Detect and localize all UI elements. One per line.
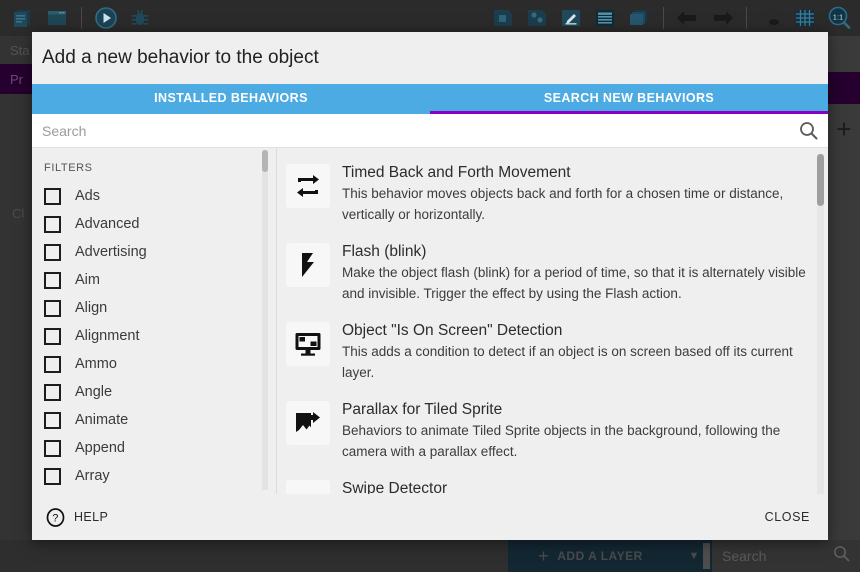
checkbox[interactable] <box>44 188 61 205</box>
behavior-title: Object "Is On Screen" Detection <box>342 322 812 340</box>
list-item-text: Object "Is On Screen" Detection This add… <box>342 322 812 383</box>
background-clipped-text: Cl <box>12 206 24 221</box>
filter-item-angle[interactable]: Angle <box>38 378 278 406</box>
behaviors-scrollbar-thumb[interactable] <box>817 154 824 206</box>
svg-text:?: ? <box>52 512 59 524</box>
app-toolbar: 1:1 <box>0 0 860 36</box>
list-item[interactable]: Parallax for Tiled Sprite Behaviors to a… <box>286 393 812 472</box>
list-item[interactable]: Timed Back and Forth Movement This behav… <box>286 156 812 235</box>
filters-panel: FILTERS Ads Advanced Advertising Aim <box>32 148 278 494</box>
checkbox[interactable] <box>44 328 61 345</box>
filter-item-append[interactable]: Append <box>38 434 278 462</box>
behavior-title: Swipe Detector <box>342 480 812 494</box>
behavior-title: Flash (blink) <box>342 243 812 261</box>
loop-arrows-icon <box>286 164 330 208</box>
dialog-footer: ? HELP CLOSE <box>32 494 828 540</box>
filter-label: Advertising <box>75 244 147 260</box>
add-behavior-plus-button[interactable]: + <box>828 112 860 146</box>
filter-label: Append <box>75 440 125 456</box>
objects-group-icon[interactable] <box>522 5 552 31</box>
tab-installed-behaviors[interactable]: INSTALLED BEHAVIORS <box>32 84 430 114</box>
list-item-text: Parallax for Tiled Sprite Behaviors to a… <box>342 401 812 462</box>
documents-icon[interactable] <box>8 5 38 31</box>
help-label: HELP <box>74 510 108 524</box>
checkbox[interactable] <box>44 468 61 485</box>
filter-item-array[interactable]: Array <box>38 462 278 490</box>
filter-item-ammo[interactable]: Ammo <box>38 350 278 378</box>
checkbox[interactable] <box>44 216 61 233</box>
checkbox[interactable] <box>44 412 61 429</box>
filters-heading: FILTERS <box>38 162 278 174</box>
toolbar-divider <box>81 7 82 29</box>
list-item-text: Swipe Detector <box>342 480 812 494</box>
application-window: 1:1 Sta Pr Cl × + + ADD A LAYER ▼ Search… <box>0 0 860 572</box>
debug-bug-icon[interactable] <box>125 5 155 31</box>
flash-bolt-icon <box>286 243 330 287</box>
filter-label: Array <box>75 468 110 484</box>
behavior-title: Timed Back and Forth Movement <box>342 164 812 182</box>
add-behavior-dialog: Add a new behavior to the object INSTALL… <box>32 32 828 540</box>
screenshot-icon[interactable] <box>756 5 786 31</box>
filter-item-advertising[interactable]: Advertising <box>38 238 278 266</box>
behavior-description: Behaviors to animate Tiled Sprite object… <box>342 421 812 462</box>
image-arrow-icon <box>286 401 330 445</box>
object-cube-icon[interactable] <box>488 5 518 31</box>
filter-item-advanced[interactable]: Advanced <box>38 210 278 238</box>
plus-icon: + <box>538 546 549 567</box>
checkbox[interactable] <box>44 356 61 373</box>
filter-item-align[interactable]: Align <box>38 294 278 322</box>
filter-label: Ammo <box>75 356 117 372</box>
toolbar-right-group: 1:1 <box>488 5 860 31</box>
dialog-tabs: INSTALLED BEHAVIORS SEARCH NEW BEHAVIORS <box>32 84 828 114</box>
zoom-one-to-one-icon[interactable]: 1:1 <box>824 5 854 31</box>
filters-scrollbar-thumb[interactable] <box>262 150 268 172</box>
list-item-text: Timed Back and Forth Movement This behav… <box>342 164 812 225</box>
dialog-body: FILTERS Ads Advanced Advertising Aim <box>32 148 828 494</box>
add-a-layer-label: ADD A LAYER <box>557 549 643 563</box>
svg-text:1:1: 1:1 <box>833 13 843 22</box>
bottom-search-placeholder: Search <box>722 548 766 564</box>
filter-item-alignment[interactable]: Alignment <box>38 322 278 350</box>
checkbox[interactable] <box>44 244 61 261</box>
question-circle-icon: ? <box>46 508 65 527</box>
checkbox[interactable] <box>44 384 61 401</box>
filter-label: Aim <box>75 272 100 288</box>
window-icon[interactable] <box>42 5 72 31</box>
filter-item-animate[interactable]: Animate <box>38 406 278 434</box>
checkbox[interactable] <box>44 272 61 289</box>
search-icon[interactable] <box>833 545 850 567</box>
filter-label: Angle <box>75 384 112 400</box>
arrow-right-icon <box>286 480 330 494</box>
close-button[interactable]: CLOSE <box>765 510 810 524</box>
redo-arrow-icon[interactable] <box>707 5 737 31</box>
filter-label: Align <box>75 300 107 316</box>
filter-label: Animate <box>75 412 128 428</box>
tab-search-new-behaviors[interactable]: SEARCH NEW BEHAVIORS <box>430 84 828 114</box>
checkbox[interactable] <box>44 440 61 457</box>
grid-icon[interactable] <box>790 5 820 31</box>
layers-icon[interactable] <box>624 5 654 31</box>
toolbar-divider-2 <box>663 7 664 29</box>
filter-item-ads[interactable]: Ads <box>38 182 278 210</box>
background-bottom-bar: + ADD A LAYER ▼ Search <box>0 540 860 572</box>
search-input[interactable] <box>42 123 799 139</box>
dialog-search-bar <box>32 114 828 148</box>
edit-pencil-icon[interactable] <box>556 5 586 31</box>
add-a-layer-button[interactable]: + ADD A LAYER <box>508 540 673 572</box>
list-item[interactable]: Swipe Detector <box>286 472 812 494</box>
behavior-description: This behavior moves objects back and for… <box>342 184 812 225</box>
list-item[interactable]: Object "Is On Screen" Detection This add… <box>286 314 812 393</box>
list-item[interactable]: Flash (blink) Make the object flash (bli… <box>286 235 812 314</box>
play-icon[interactable] <box>91 5 121 31</box>
behaviors-list: Timed Back and Forth Movement This behav… <box>278 148 828 494</box>
filter-label: Advanced <box>75 216 140 232</box>
monitor-screen-icon <box>286 322 330 366</box>
panel-divider <box>276 148 277 494</box>
behavior-description: This adds a condition to detect if an ob… <box>342 342 812 383</box>
help-button[interactable]: ? HELP <box>46 508 108 527</box>
behavior-description: Make the object flash (blink) for a peri… <box>342 263 812 304</box>
list-item-text: Flash (blink) Make the object flash (bli… <box>342 243 812 304</box>
toolbar-left-group <box>0 5 155 31</box>
dialog-title: Add a new behavior to the object <box>32 32 828 84</box>
behavior-title: Parallax for Tiled Sprite <box>342 401 812 419</box>
bottom-search-field[interactable]: Search <box>712 540 860 572</box>
toolbar-divider-3 <box>746 7 747 29</box>
bottom-bar-divider <box>703 543 710 569</box>
filter-label: Alignment <box>75 328 139 344</box>
filter-item-aim[interactable]: Aim <box>38 266 278 294</box>
search-icon[interactable] <box>799 121 818 140</box>
filter-label: Ads <box>75 188 100 204</box>
undo-arrow-icon[interactable] <box>673 5 703 31</box>
list-icon[interactable] <box>590 5 620 31</box>
checkbox[interactable] <box>44 300 61 317</box>
filters-scrollbar-track[interactable] <box>262 150 268 490</box>
